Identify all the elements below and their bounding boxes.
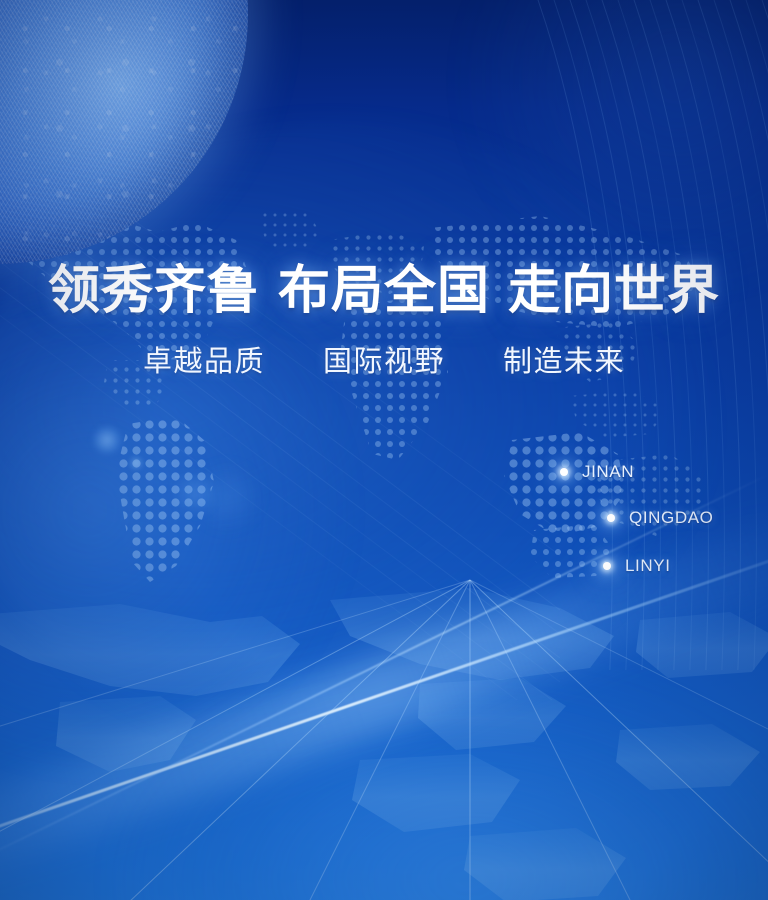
map-marker-linyi[interactable]: LINYI [603,556,671,576]
map-marker-jinan[interactable]: JINAN [560,462,634,482]
location-pin-icon [607,514,615,522]
map-marker-qingdao[interactable]: QINGDAO [607,508,714,528]
map-marker-label: JINAN [582,462,634,482]
location-pin-icon [603,562,611,570]
map-markers: JINAN QINGDAO LINYI [0,0,768,900]
map-marker-label: QINGDAO [629,508,714,528]
location-pin-icon [560,468,568,476]
hero-banner: 领秀齐鲁布局全国走向世界 卓越品质国际视野制造未来 JINAN QINGDAO … [0,0,768,900]
map-marker-label: LINYI [625,556,671,576]
